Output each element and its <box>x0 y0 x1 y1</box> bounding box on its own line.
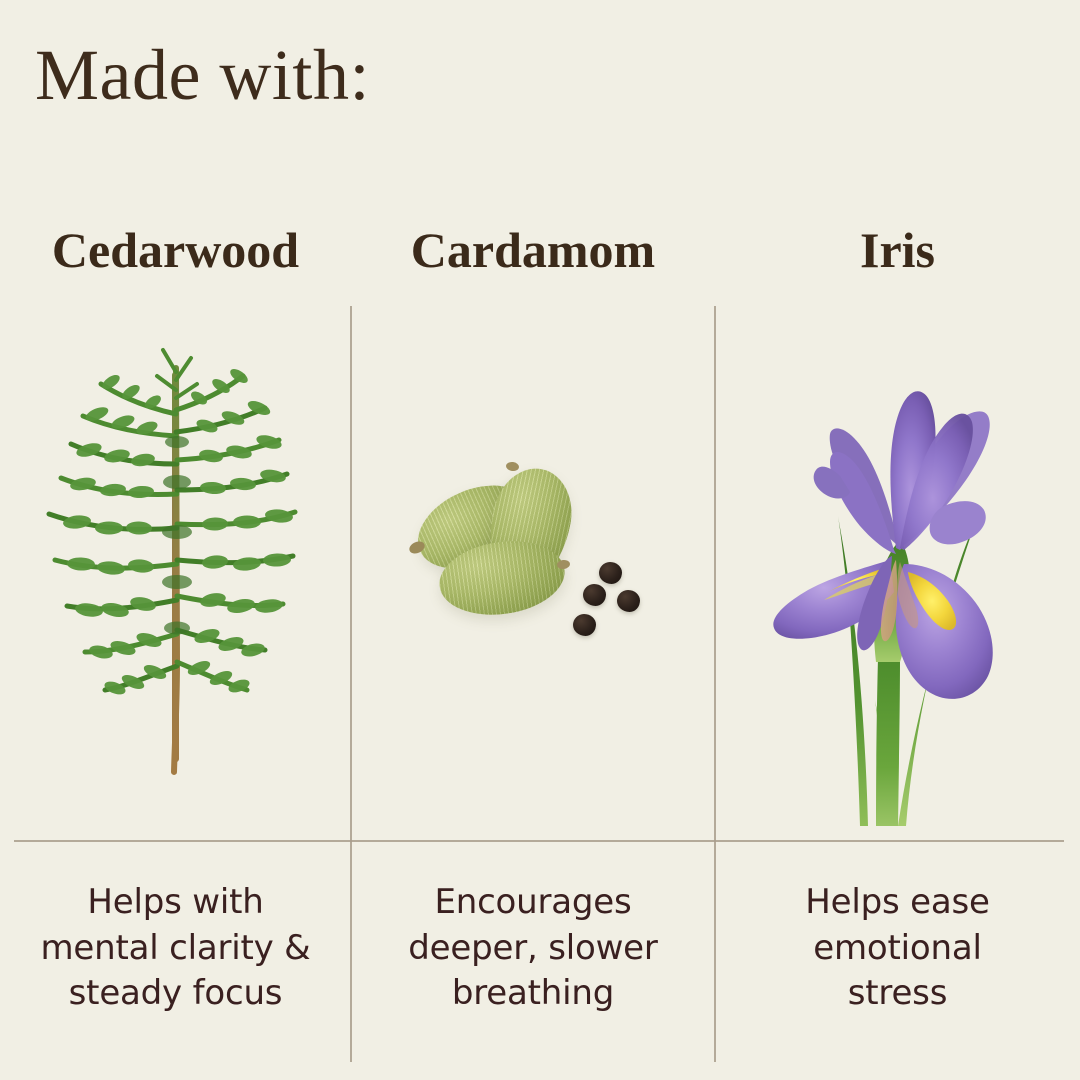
cardamom-pods-image <box>351 310 715 830</box>
cedar-foliage-svg <box>31 332 321 782</box>
column-divider-1 <box>350 306 352 1062</box>
iris-stem <box>876 658 900 826</box>
iris-graphic <box>748 328 1048 828</box>
column-divider-2 <box>714 306 716 1062</box>
cardamom-seed-3 <box>617 590 640 612</box>
iris-flower-image <box>715 310 1080 830</box>
ingredient-column-cedarwood: Cedarwood <box>0 0 351 1080</box>
ingredient-name-cardamom: Cardamom <box>351 224 715 277</box>
cardamom-pod-front-tip <box>556 559 570 570</box>
cardamom-pod-right-tip <box>505 461 519 472</box>
iris-fall-right <box>895 564 992 699</box>
cedarwood-sprig-image <box>0 310 351 830</box>
made-with-ingredients-panel: Made with: Cedarwood <box>0 0 1080 1080</box>
ingredient-columns: Cedarwood <box>0 0 1080 1080</box>
ingredient-benefit-cedarwood: Helps with mental clarity & steady focus <box>0 880 351 1017</box>
cedar-sprig-graphic <box>31 332 321 782</box>
cardamom-seed-4 <box>573 614 596 636</box>
ingredient-benefit-iris: Helps ease emotional stress <box>715 880 1080 1017</box>
ingredient-name-cedarwood: Cedarwood <box>0 224 351 277</box>
cardamom-seed-2 <box>583 584 606 606</box>
ingredient-name-iris: Iris <box>715 224 1080 277</box>
cardamom-seed-1 <box>599 562 622 584</box>
ingredient-column-iris: Iris <box>715 0 1080 1080</box>
ingredient-benefit-cardamom: Encourages deeper, slower breathing <box>351 880 715 1017</box>
iris-svg <box>748 328 1048 828</box>
ingredient-column-cardamom: Cardamom <box>351 0 715 1080</box>
horizontal-divider <box>14 840 1064 842</box>
cardamom-graphic <box>403 450 663 650</box>
